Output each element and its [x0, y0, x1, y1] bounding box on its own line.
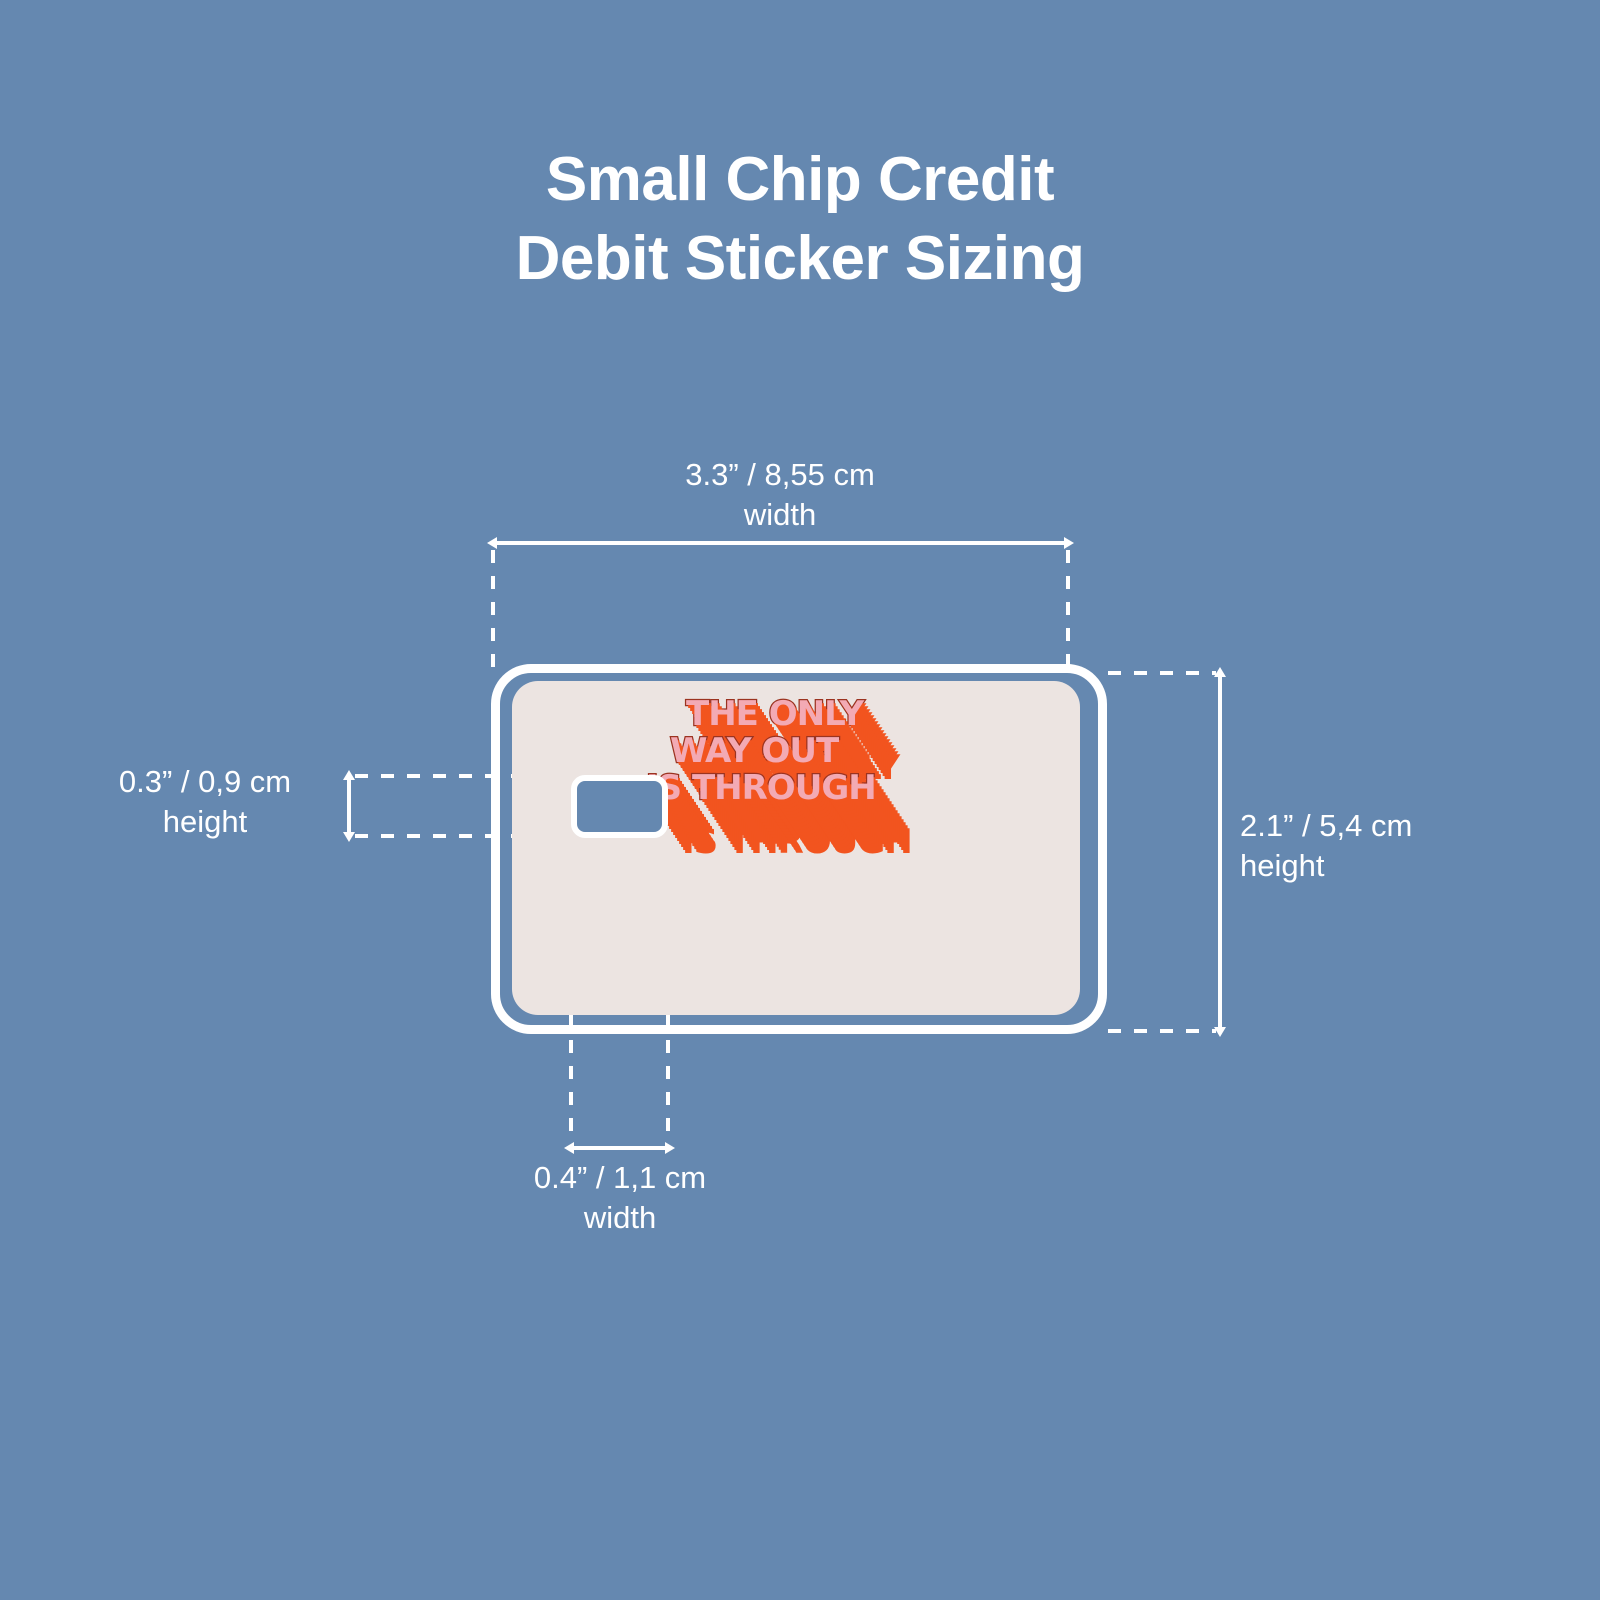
chip-height-label: 0.3” / 0,9 cm height	[80, 762, 330, 841]
card-height-dimension	[1108, 673, 1220, 1031]
card-width-label: 3.3” / 8,55 cm width	[580, 455, 980, 534]
chip-width-label: 0.4” / 1,1 cm width	[460, 1158, 780, 1237]
card-outline	[491, 664, 1107, 1034]
card-width-dimension	[493, 543, 1068, 668]
sticker-sizing-diagram: Small Chip Credit Debit Sticker Sizing	[0, 0, 1600, 1600]
card-height-label: 2.1” / 5,4 cm height	[1240, 806, 1570, 885]
page-title: Small Chip Credit Debit Sticker Sizing	[0, 140, 1600, 299]
